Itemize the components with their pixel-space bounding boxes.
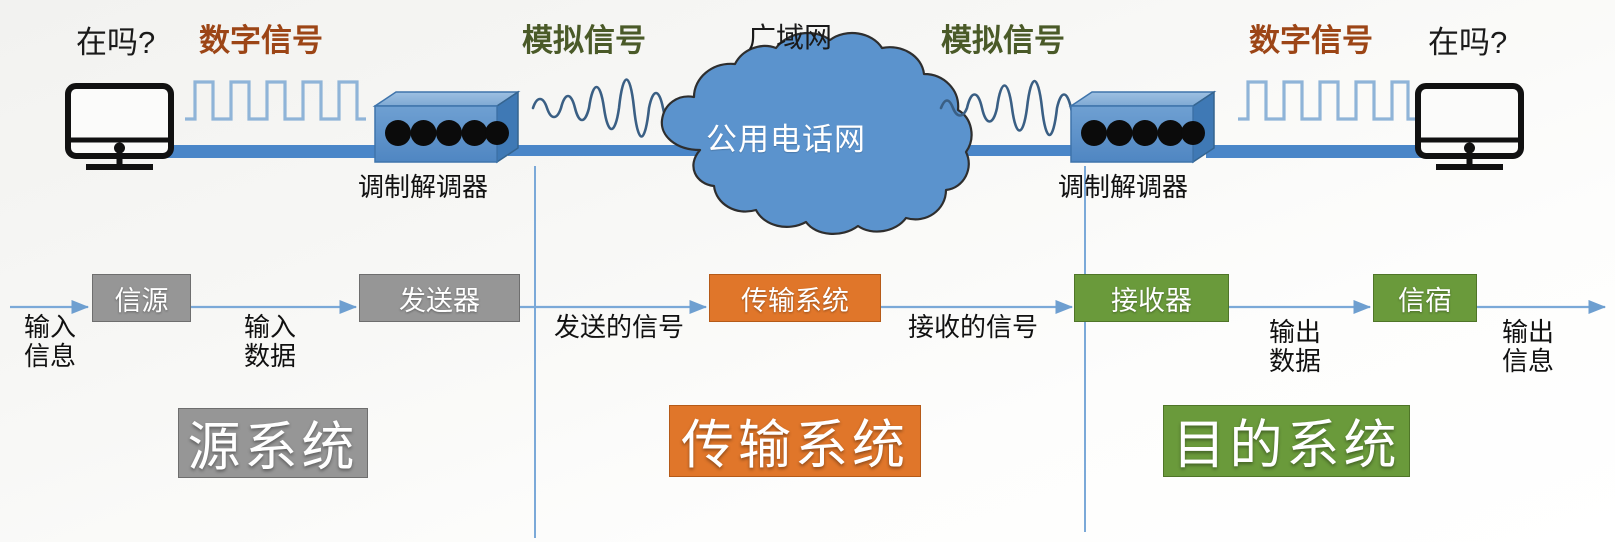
modem-left-label: 调制解调器 [358,174,488,201]
block-destination[interactable]: 信宿 [1373,274,1477,322]
analog-signal-left-label: 模拟信号 [522,25,646,58]
flow-label-sent-signal: 发送的信号 [538,313,700,342]
digital-waveform-left [185,82,366,119]
block-source[interactable]: 信源 [92,274,191,322]
flow-label-input-info: 输入信息 [8,313,92,371]
digital-signal-left-label: 数字信号 [199,25,323,58]
diagram-canvas: 在吗? 数字信号 模拟信号 广域网 模拟信号 数字信号 在吗? 公用电话网 调制… [0,0,1615,542]
block-transmission-system-label: 传输系统 [741,279,849,318]
cable-link-right-modem-to-host [1206,145,1428,158]
digital-waveform-right [1238,82,1420,119]
host-monitor-right [1418,86,1521,167]
modem-device-right [1071,92,1214,162]
digital-signal-right-label: 数字信号 [1249,25,1373,58]
banner-destination-system[interactable]: 目的系统 [1163,405,1410,477]
banner-transmission-system[interactable]: 传输系统 [669,405,921,477]
cloud-label: 公用电话网 [706,124,866,157]
block-destination-label: 信宿 [1398,279,1452,318]
flow-label-input-data: 输入数据 [228,313,312,371]
cable-link-left-modem-to-cloud [508,145,708,156]
wan-label: 广域网 [748,24,832,53]
block-receiver-label: 接收器 [1111,279,1192,318]
block-transmission-system[interactable]: 传输系统 [709,274,881,322]
banner-source-system[interactable]: 源系统 [178,408,368,478]
block-transmitter[interactable]: 发送器 [359,274,520,322]
host-query-right-label: 在吗? [1428,27,1507,60]
flow-label-output-info: 输出信息 [1486,318,1570,376]
analog-signal-right-label: 模拟信号 [941,25,1065,58]
flow-label-received-signal: 接收的信号 [892,313,1054,342]
block-transmitter-label: 发送器 [399,279,480,318]
modem-right-label: 调制解调器 [1058,174,1188,201]
cable-link-left-host-to-modem [160,145,382,158]
flow-label-output-data: 输出数据 [1253,318,1337,376]
banner-transmission-system-label: 传输系统 [681,403,909,479]
banner-destination-system-label: 目的系统 [1173,403,1401,479]
block-source-label: 信源 [115,279,169,318]
host-query-left-label: 在吗? [76,27,155,60]
block-receiver[interactable]: 接收器 [1074,274,1229,322]
modem-device-left [375,92,518,162]
host-monitor-left [68,86,171,167]
banner-source-system-label: 源系统 [188,405,359,481]
